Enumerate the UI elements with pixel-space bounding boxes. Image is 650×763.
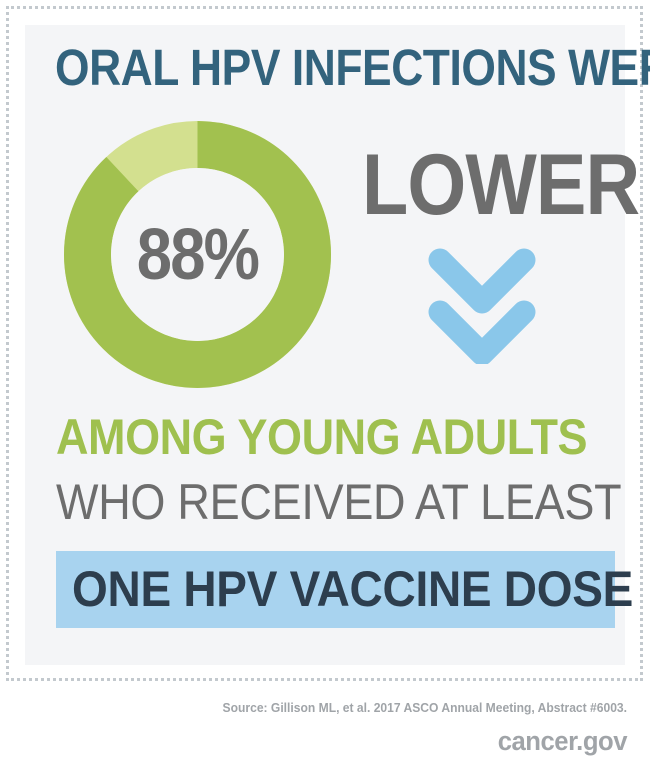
body-line-who-received: WHO RECEIVED AT LEAST bbox=[56, 475, 621, 529]
infographic-root: ORAL HPV INFECTIONS WERE 88% LOWER AMONG… bbox=[0, 0, 650, 763]
chevron-down-icon-svg bbox=[428, 246, 536, 364]
chevron-down-icon-group bbox=[428, 246, 536, 364]
highlight-banner: ONE HPV VACCINE DOSE bbox=[56, 551, 615, 628]
donut-chart: 88% bbox=[64, 121, 331, 388]
donut-center-value: 88% bbox=[80, 121, 315, 388]
chevron-down-icon-second bbox=[440, 312, 524, 354]
chevron-down-icon-first bbox=[440, 260, 524, 302]
emphasis-word-lower: LOWER bbox=[362, 141, 639, 229]
site-attribution: cancer.gov bbox=[31, 726, 627, 757]
highlight-banner-text: ONE HPV VACCINE DOSE bbox=[72, 560, 633, 618]
page-title: ORAL HPV INFECTIONS WERE bbox=[55, 40, 538, 96]
body-line-among-young-adults: AMONG YOUNG ADULTS bbox=[56, 410, 587, 464]
source-citation: Source: Gillison ML, et al. 2017 ASCO An… bbox=[44, 700, 627, 715]
